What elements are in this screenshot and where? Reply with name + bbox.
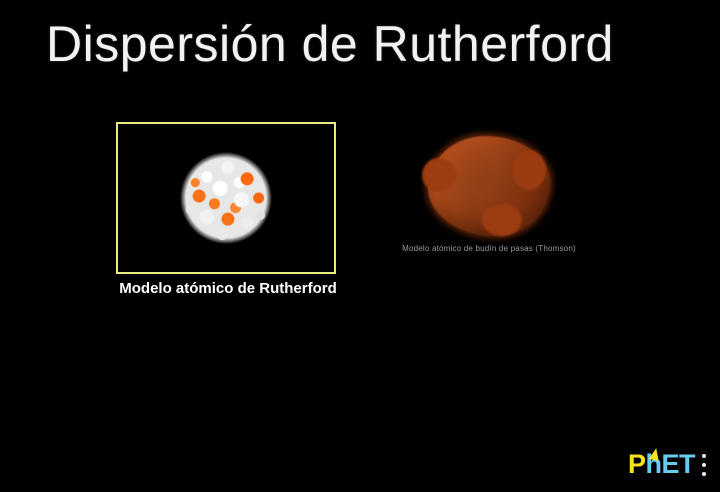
phet-letter-e: E	[662, 449, 680, 479]
rutherford-nucleus-sphere-image	[178, 150, 274, 246]
phet-dot	[702, 454, 706, 458]
pudding-lobe-bottom-icon	[482, 204, 522, 236]
page-title: Dispersión de Rutherford	[46, 14, 686, 74]
phet-logo: PhET	[628, 448, 714, 482]
rutherford-model-panel: Modelo atómico de Rutherford	[116, 122, 336, 274]
thomson-caption: Modelo atómico de budín de pasas (Thomso…	[386, 244, 592, 253]
phet-dot	[702, 472, 706, 476]
thomson-model-panel: Modelo atómico de budín de pasas (Thomso…	[386, 132, 592, 262]
phet-letter-p: P	[628, 449, 646, 479]
phet-dots-icon	[702, 454, 708, 478]
phet-wordmark: PhET	[628, 450, 695, 478]
pudding-lobe-left-icon	[422, 158, 456, 192]
phet-letter-t: T	[679, 449, 695, 479]
pudding-lobe-right-icon	[512, 150, 546, 190]
presentation-slide: Dispersión de Rutherford Modelo atómico …	[0, 0, 720, 492]
phet-dot	[702, 463, 706, 467]
rutherford-caption: Modelo atómico de Rutherford	[114, 280, 342, 297]
yellow-highlight-frame	[116, 122, 336, 274]
